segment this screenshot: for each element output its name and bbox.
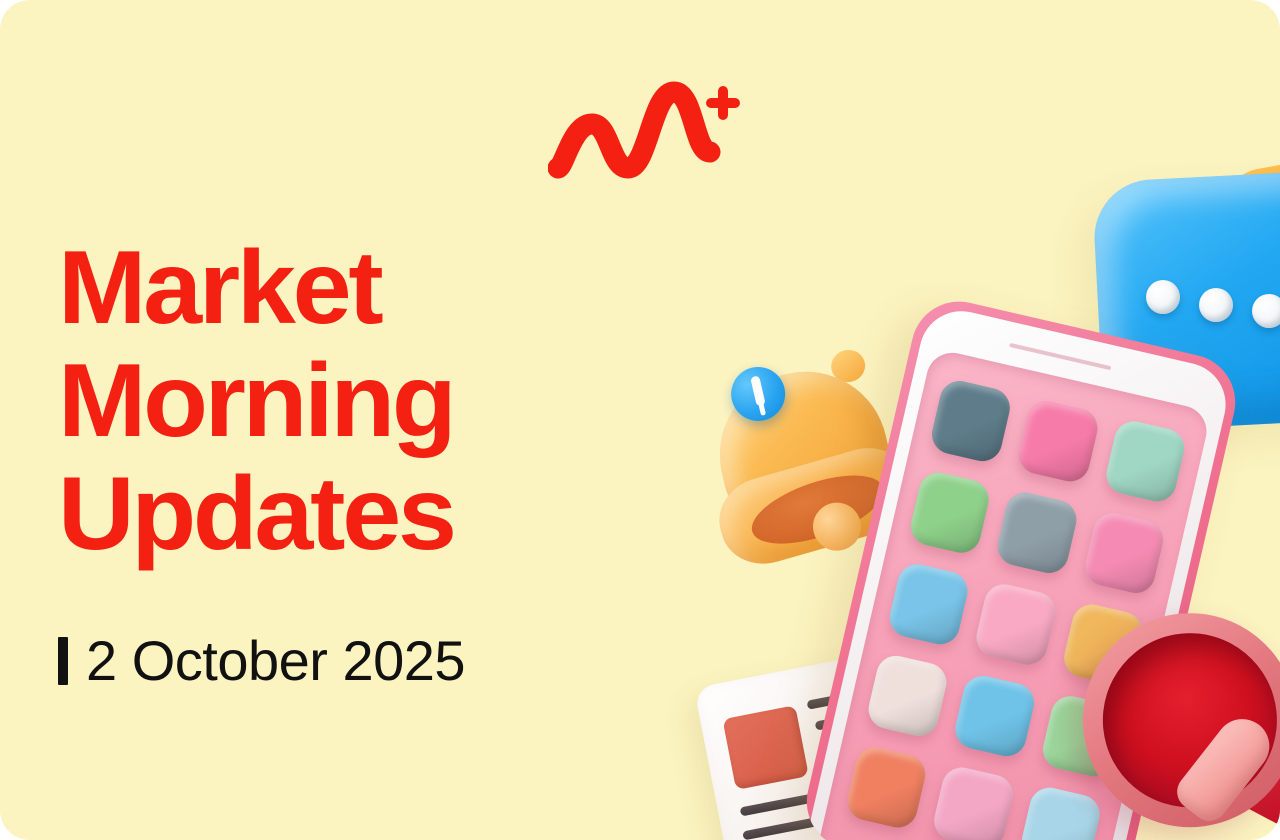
phone-app-icon — [865, 652, 951, 740]
phone-app-icon — [1081, 509, 1167, 597]
exclamation-glyph — [750, 375, 766, 406]
phone-app-icon — [843, 743, 929, 831]
phone-app-icon — [994, 489, 1080, 577]
phone-app-icon — [907, 469, 993, 557]
phone-app-icon — [930, 764, 1016, 840]
phone-app-icon — [1102, 417, 1188, 505]
megaphone-3d — [1071, 603, 1280, 840]
phone-app-icon — [928, 377, 1014, 465]
market-morning-updates-banner: Market Morning Updates 2 October 2025 — [0, 0, 1280, 840]
chat-bubble-dot — [1252, 294, 1280, 328]
phone-app-icon — [952, 672, 1038, 760]
chat-bubble-dot — [1199, 288, 1233, 322]
chat-bubble-dot — [1146, 280, 1180, 314]
illustration-cluster — [0, 0, 1280, 840]
phone-app-icon — [886, 560, 972, 648]
phone-app-icon — [1015, 397, 1101, 485]
phone-app-icon — [973, 580, 1059, 668]
article-image-block — [722, 705, 808, 790]
